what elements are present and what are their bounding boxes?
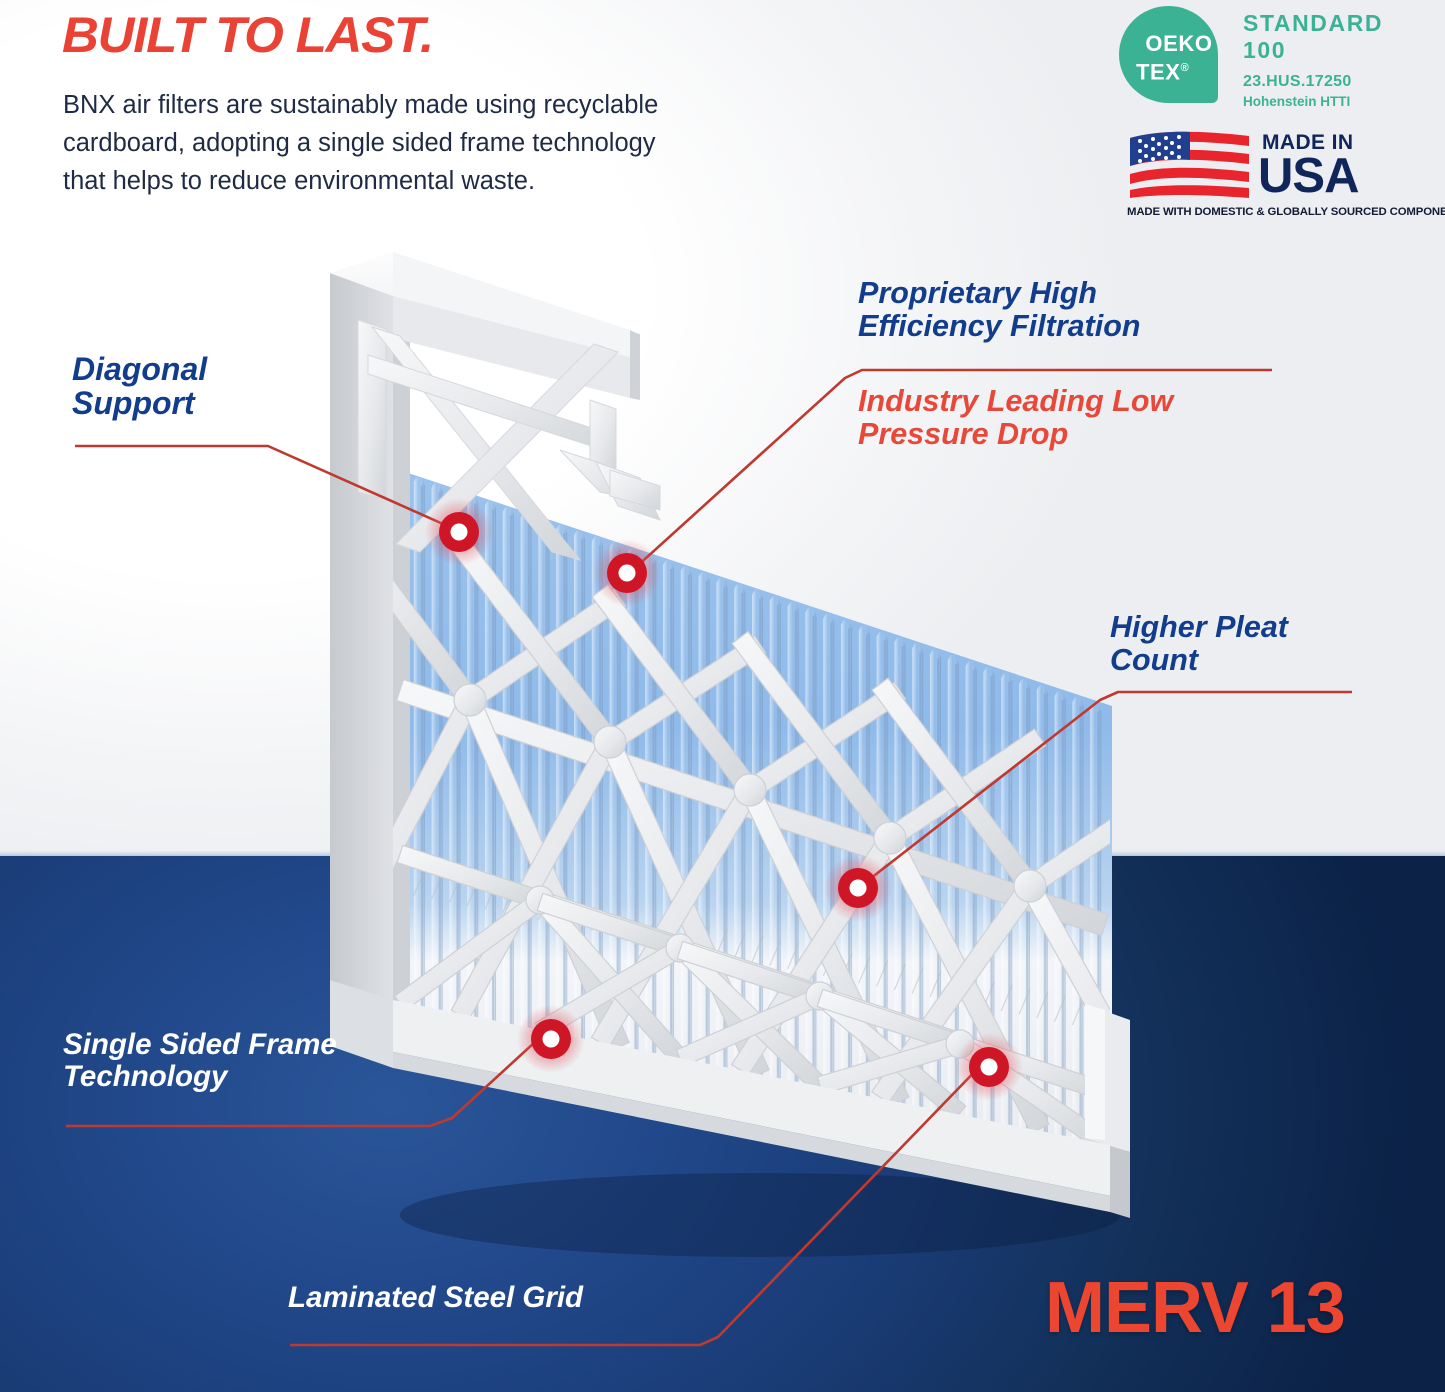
oeko-label-line2: TEX® — [1136, 56, 1214, 84]
callout-proprietary-filtration: Proprietary High Efficiency Filtration — [858, 277, 1140, 342]
intro-line-2: cardboard, adopting a single sided frame… — [63, 124, 893, 162]
intro-line-3: that helps to reduce environmental waste… — [63, 162, 893, 200]
oeko-tex-text: TEX — [1136, 59, 1181, 84]
callout-pressure-drop: Industry Leading Low Pressure Drop — [858, 385, 1173, 450]
intro-paragraph: BNX air filters are sustainably made usi… — [63, 86, 893, 200]
registered-mark-icon: ® — [1181, 62, 1190, 74]
callout-diagonal-support: Diagonal Support — [72, 352, 207, 420]
merv-rating-badge: MERV 13 — [1045, 1272, 1345, 1344]
usa-sourcing-note: MADE WITH DOMESTIC & GLOBALLY SOURCED CO… — [1127, 206, 1442, 218]
callout-single-sided-frame: Single Sided Frame Technology — [63, 1029, 337, 1092]
oeko-label-line1: OEKO — [1140, 31, 1218, 56]
oeko-code-number: 23.HUS.17250 — [1243, 72, 1443, 92]
page-title: BUILT TO LAST. — [62, 6, 433, 64]
oeko-standard-label: STANDARD 100 — [1243, 10, 1443, 64]
intro-line-1: BNX air filters are sustainably made usi… — [63, 86, 893, 124]
callout-higher-pleat-count: Higher Pleat Count — [1110, 611, 1288, 676]
callout-laminated-steel-grid: Laminated Steel Grid — [288, 1282, 583, 1314]
usa-label: USA — [1258, 152, 1358, 201]
oeko-institute: Hohenstein HTTI — [1243, 92, 1443, 112]
infographic-canvas: BUILT TO LAST. BNX air filters are susta… — [0, 0, 1445, 1392]
oeko-certificate-code: 23.HUS.17250 Hohenstein HTTI — [1243, 72, 1443, 112]
usa-flag-icon — [1128, 128, 1251, 200]
